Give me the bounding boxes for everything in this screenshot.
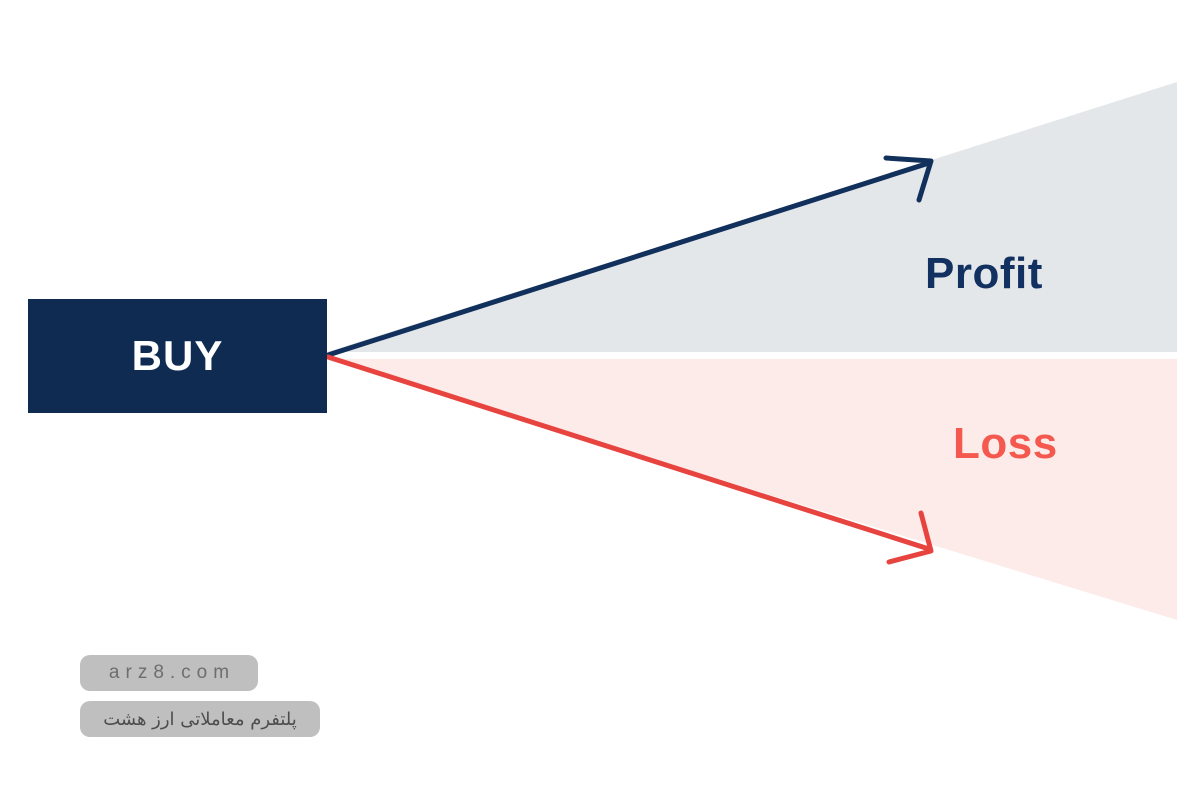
watermark-tagline-text: پلتفرم معاملاتی ارز هشت: [103, 709, 297, 730]
diagram-canvas: BUY Profit Loss arz8.com پلتفرم معاملاتی…: [0, 0, 1200, 800]
watermark-site-badge: arz8.com: [80, 655, 258, 691]
watermark-site-text: arz8.com: [103, 662, 235, 684]
buy-label: BUY: [132, 335, 224, 377]
loss-label: Loss: [953, 422, 1058, 466]
buy-box[interactable]: BUY: [28, 299, 327, 413]
profit-label: Profit: [925, 252, 1043, 296]
watermark-tagline-badge: پلتفرم معاملاتی ارز هشت: [80, 701, 320, 737]
